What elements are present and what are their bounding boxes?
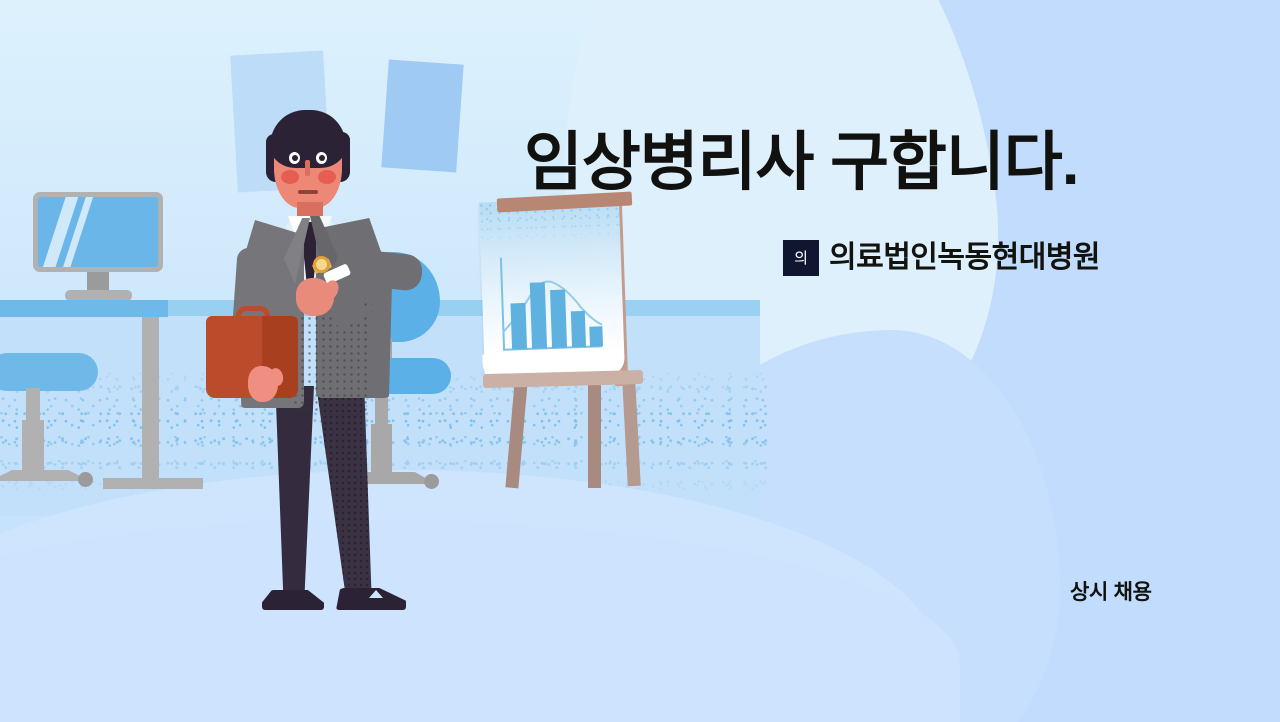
desk-foot bbox=[103, 478, 203, 489]
trouser-texture bbox=[316, 384, 372, 608]
mouth bbox=[298, 190, 318, 194]
chart-bar-3 bbox=[550, 290, 567, 348]
easel-leg-middle bbox=[588, 382, 601, 488]
chart-bar-4 bbox=[571, 311, 586, 347]
pupil-right bbox=[319, 155, 325, 161]
company-badge: 의 bbox=[783, 240, 819, 276]
pupil-left bbox=[292, 155, 298, 161]
hiring-type-label: 상시 채용 bbox=[1070, 576, 1152, 606]
cheek-blush-right bbox=[318, 170, 336, 184]
wristwatch-face bbox=[313, 256, 330, 273]
nose bbox=[305, 160, 310, 176]
flipchart-bar-chart bbox=[495, 250, 611, 366]
page-title: 임상병리사 구합니다. bbox=[524, 130, 1078, 194]
hand-right bbox=[296, 278, 334, 316]
chair-left-caster bbox=[78, 472, 93, 487]
chart-bar-2 bbox=[530, 282, 547, 348]
chair-left-seat bbox=[0, 353, 98, 391]
job-posting-poster: 임상병리사 구합니다. 의 의료법인녹동현대병원 상시 채용 bbox=[0, 0, 1280, 722]
company-name: 의료법인녹동현대병원 bbox=[829, 243, 1100, 273]
desk-leg bbox=[142, 317, 159, 487]
trouser-leg-left bbox=[272, 386, 314, 608]
chart-bar-1 bbox=[510, 303, 527, 349]
cheek-blush-left bbox=[281, 170, 299, 184]
monitor-screen bbox=[38, 197, 158, 267]
flipchart-paper bbox=[479, 198, 625, 381]
company-row: 의 의료법인녹동현대병원 bbox=[783, 240, 1100, 276]
chart-bar-5 bbox=[589, 326, 603, 346]
desk-surface bbox=[0, 300, 168, 317]
chair-right-caster bbox=[424, 474, 439, 489]
shoe-right bbox=[336, 588, 406, 610]
shoe-left bbox=[262, 590, 324, 610]
businessman-figure bbox=[196, 98, 426, 618]
